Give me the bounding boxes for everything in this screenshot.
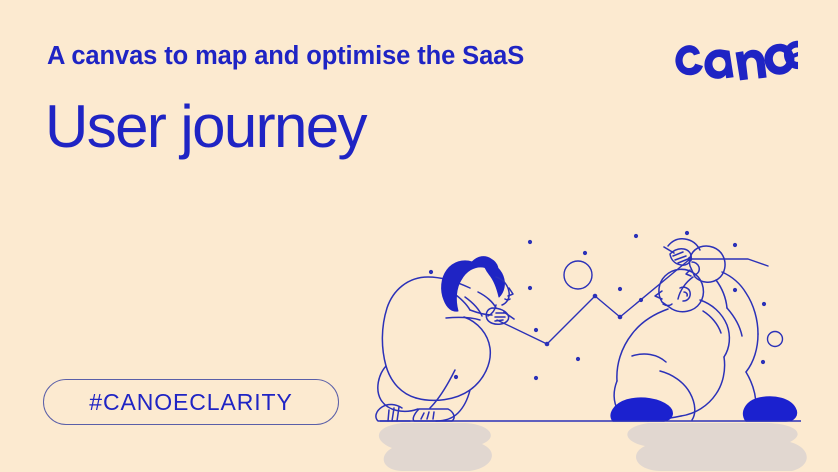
canoe-logo[interactable] — [672, 28, 798, 86]
outlined-circles — [564, 261, 783, 347]
figure-left-kneeling-woman — [376, 257, 514, 421]
hashtag-pill-button[interactable]: #CANOECLARITY — [43, 379, 339, 425]
logo-letter-n — [736, 50, 767, 81]
logo-letter-c — [675, 45, 703, 75]
small-circle — [768, 332, 783, 347]
figure-right-back-person — [664, 239, 758, 406]
large-circle — [564, 261, 592, 289]
page-title: User journey — [45, 93, 366, 160]
constellation-path — [497, 257, 768, 347]
slide-canvas: A canvas to map and optimise the SaaS Us… — [0, 0, 838, 472]
hashtag-label: #CANOECLARITY — [89, 389, 292, 416]
page-subtitle: A canvas to map and optimise the SaaS — [47, 42, 524, 70]
star-dots — [429, 231, 766, 380]
ground-shadows — [379, 423, 807, 471]
figure-right-front-person — [611, 269, 796, 421]
logo-letter-a — [704, 49, 733, 78]
